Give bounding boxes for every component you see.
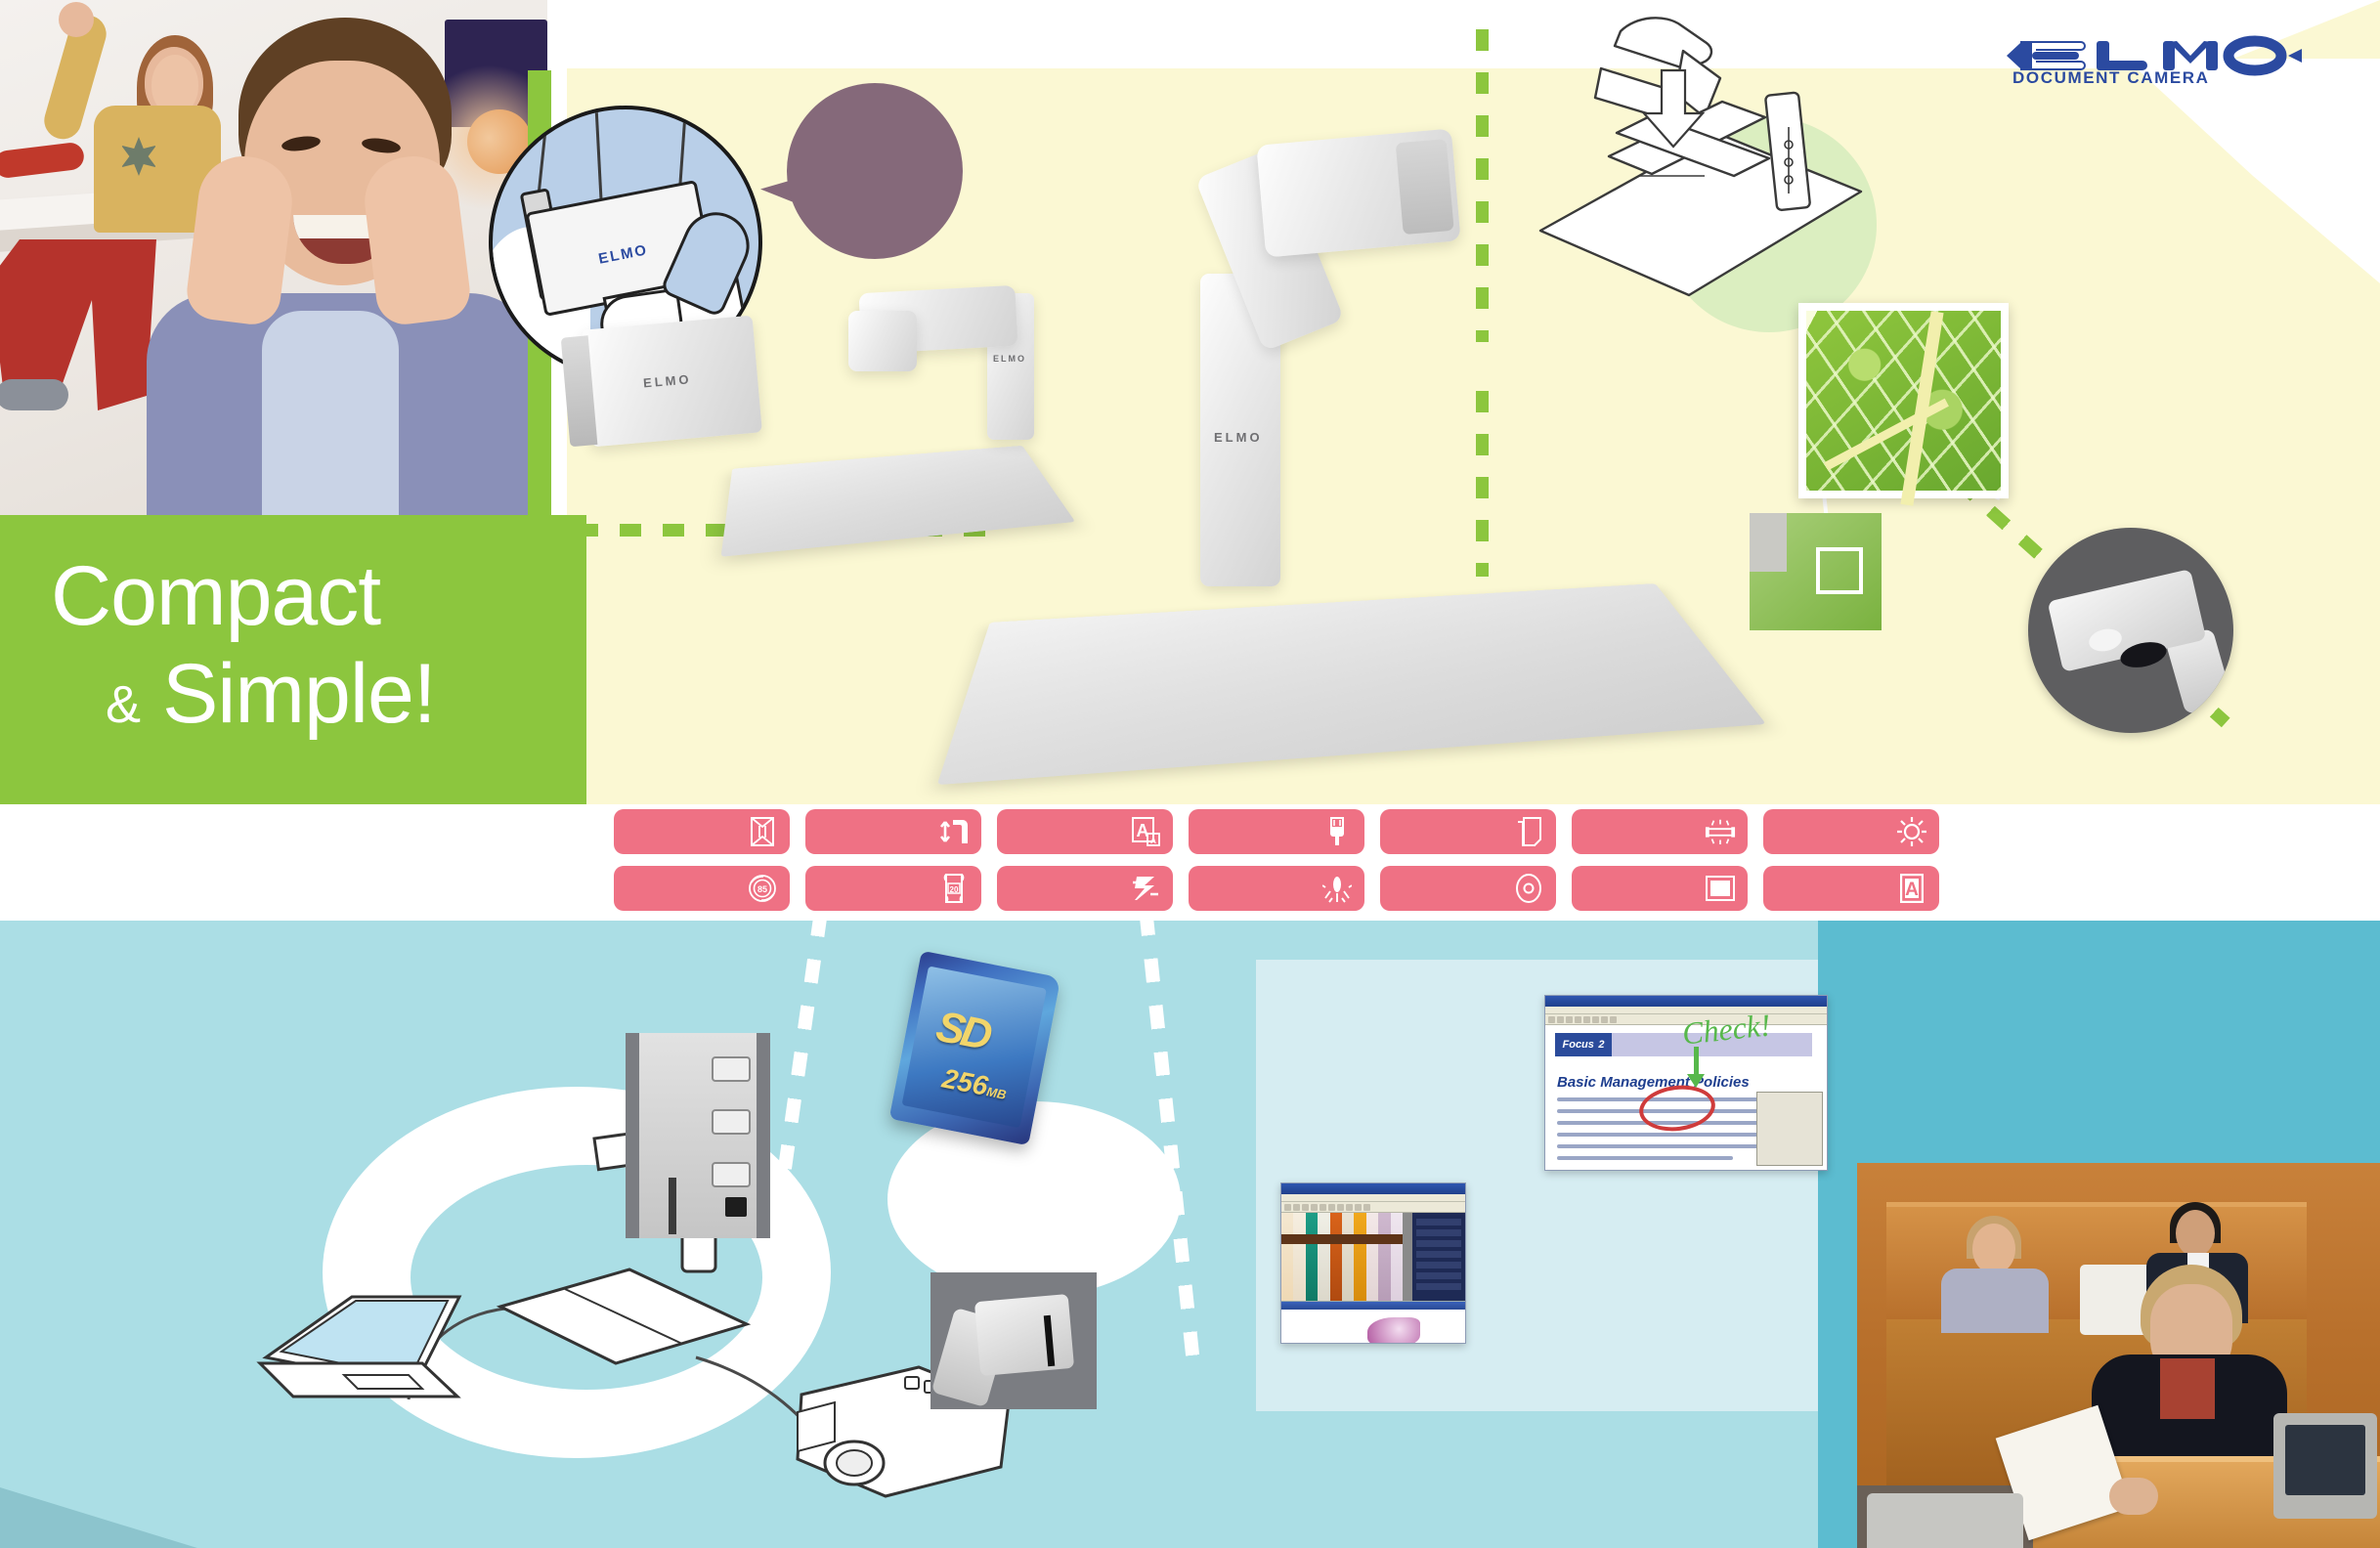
document-focus-label: Focus — [1563, 1039, 1594, 1051]
badge-document[interactable] — [1380, 809, 1556, 854]
classroom-photo — [0, 0, 547, 515]
document-heading: Basic Management Policies — [1557, 1074, 1750, 1091]
badge-zoom-z[interactable] — [997, 866, 1173, 911]
camera-head-closeup — [2028, 528, 2233, 733]
dashed-connector-top — [1476, 29, 1489, 342]
fold-illustration — [1495, 10, 1867, 332]
badge-spot-lamp[interactable] — [1189, 866, 1364, 911]
badge-film-20[interactable]: 20 — [805, 866, 981, 911]
badge-led-bar[interactable] — [1572, 809, 1748, 854]
spot-lamp-icon — [1321, 873, 1353, 904]
headline-ampersand: & — [106, 675, 140, 734]
product-main-head — [1256, 129, 1460, 258]
badge-image-flip[interactable] — [614, 809, 790, 854]
courtroom-photo — [1857, 1163, 2380, 1548]
ports-closeup — [626, 1033, 770, 1238]
leaf-magnified — [1798, 303, 2009, 498]
feature-badge-row-2: 85 20 — [614, 866, 1982, 911]
text-enlarge-icon: AA — [1130, 816, 1161, 847]
viewer-titlebar — [1281, 1183, 1465, 1194]
product-main-label: ELMO — [1214, 430, 1263, 445]
document-focus-number: 2 — [1598, 1039, 1604, 1051]
document-software-screenshot: Focus 2 Basic Management Policies Check! — [1544, 995, 1828, 1171]
text-negative-icon: A — [1896, 873, 1927, 904]
viewer-software-screenshot — [1280, 1182, 1466, 1344]
product-halfopen-label: ELMO — [993, 354, 1026, 364]
fullscreen-frame-icon — [1705, 873, 1736, 904]
badge-20-label: 20 — [950, 885, 959, 894]
badge-fullscreen[interactable] — [1572, 866, 1748, 911]
optical-disc-icon — [1513, 873, 1544, 904]
sd-card-logo: SD — [932, 1003, 993, 1060]
brightness-sun-icon — [1896, 816, 1927, 847]
sd-capacity-unit: MB — [985, 1084, 1008, 1102]
headline-line-2-text: Simple! — [162, 647, 436, 741]
feature-badge-row-1: AA — [614, 809, 1982, 854]
badge-aperture-85[interactable]: 85 — [614, 866, 790, 911]
badge-text-enlarge[interactable]: AA — [997, 809, 1173, 854]
badge-arm-height[interactable] — [805, 809, 981, 854]
document-focus-tag: Focus 2 — [1555, 1033, 1612, 1056]
headline-line-2: & Simple! — [106, 652, 436, 736]
headline-line-1: Compact — [51, 554, 380, 638]
aperture-85-icon: 85 — [747, 873, 778, 904]
image-flip-vertical-icon — [747, 816, 778, 847]
elmo-subtitle-text: DOCUMENT CAMERA — [2012, 68, 2210, 84]
badge-85-label: 85 — [757, 884, 767, 894]
document-page-icon — [1513, 816, 1544, 847]
elmo-wordmark-icon: DOCUMENT CAMERA — [1999, 27, 2321, 84]
led-bar-light-icon — [1705, 816, 1736, 847]
svg-text:A: A — [1150, 837, 1156, 845]
feature-badge-grid: AA — [614, 809, 1982, 911]
document-titlebar — [1545, 996, 1827, 1007]
usb-plug-icon — [1321, 816, 1353, 847]
laptop-icon — [260, 1297, 459, 1397]
speech-bubble — [787, 83, 963, 259]
zoom-z-icon — [1130, 873, 1161, 904]
test-tube-photo — [1281, 1213, 1403, 1301]
svg-text:A: A — [1905, 880, 1919, 900]
hero-panel: DOCUMENT CAMERA ELMO DOCUMENT CAMERA — [0, 0, 2380, 804]
film-20-frames-icon: 20 — [938, 873, 970, 904]
badge-usb[interactable] — [1189, 809, 1364, 854]
product-folded: ELMO — [582, 316, 762, 448]
document-palette-window — [1756, 1092, 1823, 1166]
elmo-logo: DOCUMENT CAMERA ELMO DOCUMENT CAMERA — [1999, 27, 2331, 117]
arm-height-adjust-icon — [938, 816, 970, 847]
leaf-selection-box — [1816, 547, 1863, 594]
dashed-connector-mid — [1476, 391, 1489, 577]
brochure-page: DOCUMENT CAMERA ELMO DOCUMENT CAMERA — [0, 0, 2380, 1548]
badge-optical-disc[interactable] — [1380, 866, 1556, 911]
badge-brightness[interactable] — [1763, 809, 1939, 854]
headline-block: Compact & Simple! — [0, 515, 586, 804]
badge-text-negative[interactable]: A — [1763, 866, 1939, 911]
product-halfopen-head — [848, 311, 917, 371]
fold-illustration-lineart-icon — [1495, 10, 1867, 332]
sd-slot-closeup — [930, 1272, 1097, 1409]
